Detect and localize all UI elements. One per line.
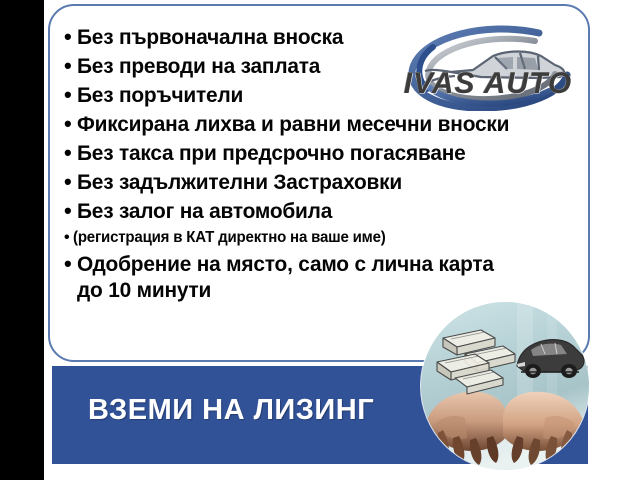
list-item-label: (регистрация в КАТ директно на ваше име) bbox=[73, 227, 569, 249]
bullet-dot-icon: • bbox=[64, 24, 77, 50]
bullet-dot-icon: • bbox=[64, 140, 77, 166]
bullet-dot-icon: • bbox=[64, 169, 77, 195]
poster-canvas: • Без първоначална вноска • Без преводи … bbox=[0, 0, 640, 480]
list-item: • Фиксирана лихва и равни месечни вноски bbox=[64, 111, 584, 137]
list-item: • (регистрация в КАТ директно на ваше им… bbox=[64, 227, 584, 249]
bullet-dot-icon: • bbox=[64, 111, 77, 137]
hands-money-car-photo bbox=[421, 302, 589, 470]
list-item-label: Без залог на автомобила bbox=[77, 198, 569, 224]
list-item: • Без такса при предсрочно погасяване bbox=[64, 140, 584, 166]
list-item: • Одобрение на място, само с лична карта… bbox=[64, 251, 584, 303]
banner-headline: ВЗЕМИ НА ЛИЗИНГ bbox=[88, 393, 374, 427]
list-item-label: Фиксирана лихва и равни месечни вноски bbox=[77, 111, 569, 137]
list-item: • Без залог на автомобила bbox=[64, 198, 584, 224]
bullet-dot-icon: • bbox=[64, 198, 77, 224]
bullet-dot-icon: • bbox=[64, 53, 77, 79]
bullet-dot-icon: • bbox=[64, 82, 77, 108]
ivas-auto-logo: IVAS AUTO bbox=[389, 25, 585, 111]
letterbox-bar-left bbox=[0, 0, 44, 480]
bullet-dot-icon: • bbox=[64, 227, 73, 249]
list-item-label: Без задължителни Застраховки bbox=[77, 169, 569, 195]
ivas-auto-car-swoosh-icon bbox=[389, 25, 585, 111]
list-item-label: Одобрение на място, само с лична карта д… bbox=[77, 251, 569, 303]
hands-holding-money-and-car-image bbox=[421, 302, 589, 470]
bullet-dot-icon: • bbox=[64, 251, 77, 277]
list-item: • Без задължителни Застраховки bbox=[64, 169, 584, 195]
list-item-label: Без такса при предсрочно погасяване bbox=[77, 140, 569, 166]
